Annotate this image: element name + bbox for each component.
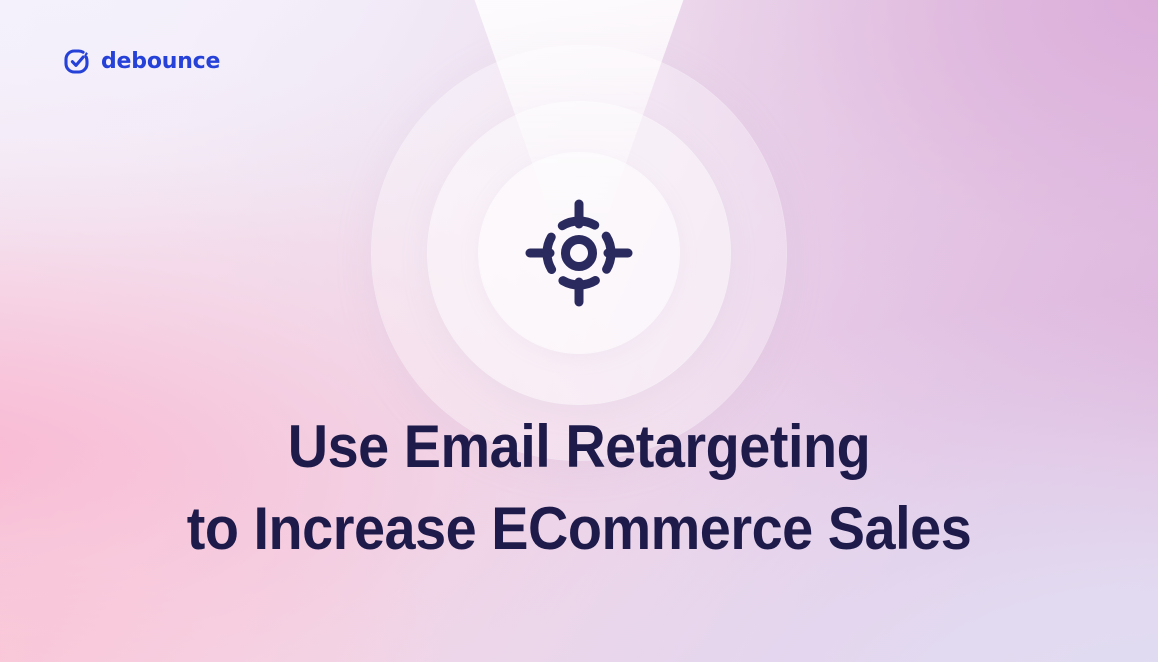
page-title: Use Email Retargeting to Increase EComme… bbox=[41, 406, 1118, 570]
hero-banner: debounce Use Email Retargeting to Increa… bbox=[0, 0, 1158, 662]
logo-wordmark: debounce bbox=[101, 51, 220, 73]
debounce-check-icon bbox=[62, 47, 92, 77]
debounce-logo[interactable]: debounce bbox=[62, 47, 220, 77]
page-title-line-2: to Increase ECommerce Sales bbox=[41, 488, 1118, 570]
page-title-line-1: Use Email Retargeting bbox=[41, 406, 1118, 488]
